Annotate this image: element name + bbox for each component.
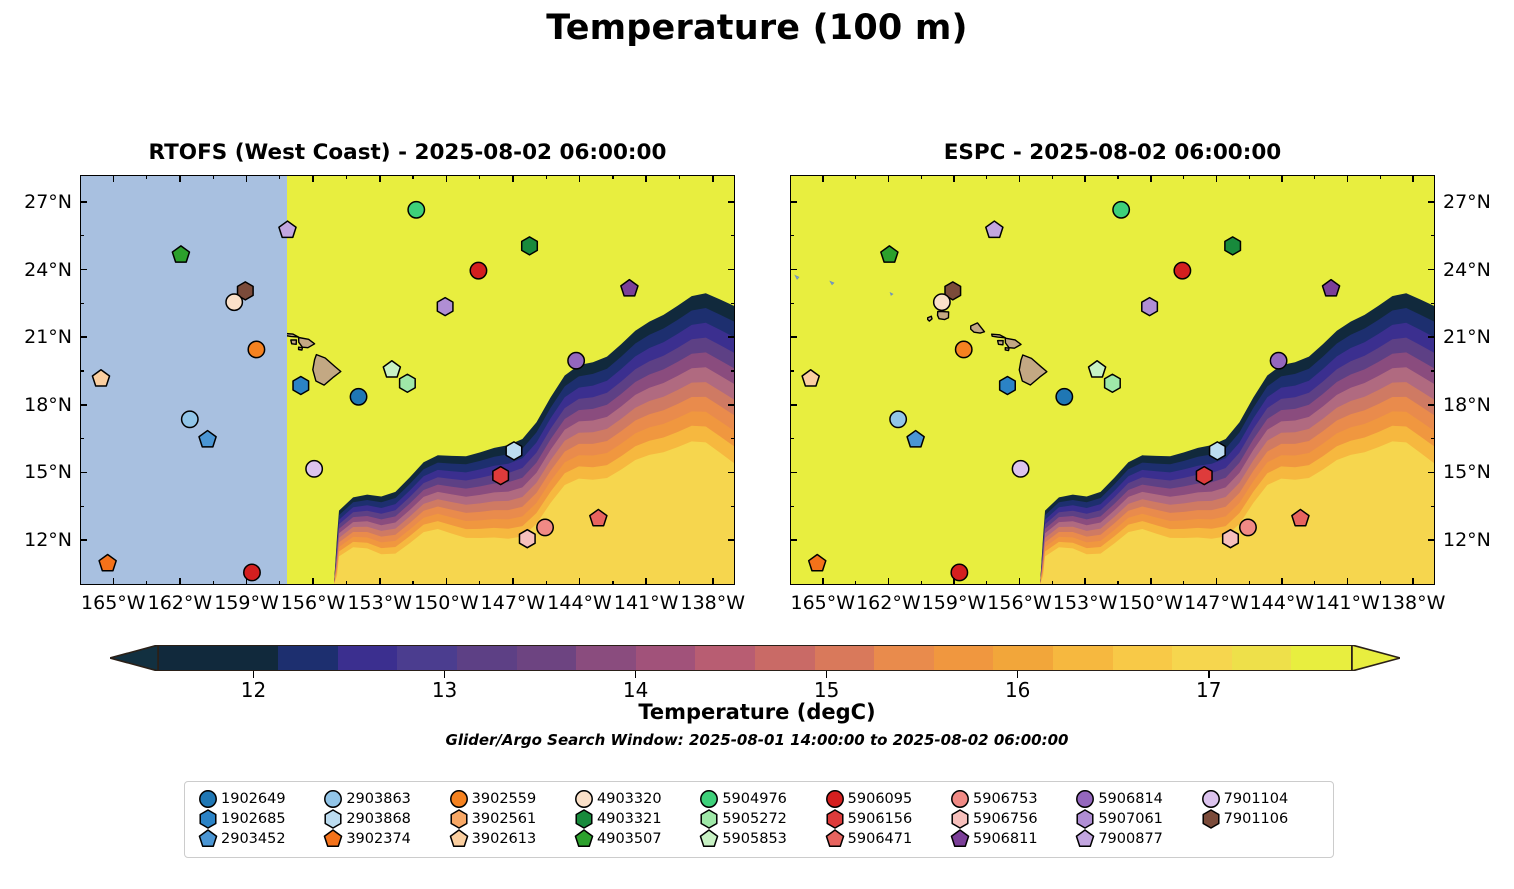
platform-marker-3902613[interactable]: [92, 370, 109, 386]
legend-item-7901106[interactable]: 7901106: [1198, 809, 1323, 829]
lon-tick: [1216, 578, 1218, 585]
platform-marker-2903452[interactable]: [907, 431, 924, 447]
platform-marker-5906814[interactable]: [568, 353, 584, 369]
lat-tick: [790, 269, 797, 271]
colorbar-tick: [635, 671, 637, 678]
legend-swatch-1902649[interactable]: [200, 791, 216, 807]
search-window-annotation: Glider/Argo Search Window: 2025-08-01 14…: [0, 731, 1514, 749]
legend-label: 3902561: [472, 811, 537, 827]
lon-tick-label: 138°W: [1365, 592, 1461, 614]
platform-legend[interactable]: 1902649190268529034522903863290386839023…: [184, 781, 1334, 858]
lon-tick: [1150, 578, 1152, 585]
lat-tick-minor: [1431, 370, 1435, 371]
platform-marker-4903507[interactable]: [172, 246, 189, 262]
lat-tick-minor: [80, 235, 84, 236]
legend-label: 5906811: [973, 831, 1038, 847]
lat-tick: [80, 336, 87, 338]
legend-swatch-5906753[interactable]: [952, 791, 968, 807]
lon-tick: [512, 175, 514, 182]
platform-marker-layer-espc: [791, 176, 1435, 585]
lon-tick: [1412, 175, 1414, 182]
lon-tick-minor: [546, 175, 547, 179]
lat-tick: [1428, 404, 1435, 406]
lat-tick: [1428, 201, 1435, 203]
lon-tick: [113, 175, 115, 182]
lon-tick-minor: [546, 581, 547, 585]
map-panel-espc[interactable]: [790, 175, 1435, 585]
legend-item-5906095[interactable]: 5906095: [822, 789, 947, 809]
legend-marker-icon: [947, 789, 973, 809]
lat-tick: [728, 269, 735, 271]
lon-tick: [1281, 578, 1283, 585]
figure-canvas: Temperature (100 m) RTOFS (West Coast) -…: [0, 0, 1514, 889]
platform-marker-4903321[interactable]: [522, 237, 538, 255]
legend-swatch-3902613[interactable]: [450, 830, 467, 846]
lon-tick-minor: [612, 581, 613, 585]
legend-label: 5906756: [973, 811, 1038, 827]
lon-tick: [113, 578, 115, 585]
lat-tick-minor: [1431, 506, 1435, 507]
lon-tick: [888, 175, 890, 182]
lat-tick-label: 15°N: [1443, 462, 1513, 482]
platform-marker-4903320[interactable]: [934, 294, 950, 310]
legend-marker-icon: [947, 809, 973, 829]
lon-tick: [712, 175, 714, 182]
legend-marker-icon: [822, 789, 848, 809]
lon-tick: [1281, 175, 1283, 182]
lat-tick: [728, 336, 735, 338]
legend-item-5904976[interactable]: 5904976: [696, 789, 821, 809]
lat-tick: [80, 201, 87, 203]
legend-marker-icon: [1072, 789, 1098, 809]
lon-tick-minor: [1380, 175, 1381, 179]
legend-marker-icon: [446, 809, 472, 829]
lon-tick: [1019, 175, 1021, 182]
platform-marker-7900877[interactable]: [986, 221, 1003, 237]
lat-tick-minor: [1431, 438, 1435, 439]
lat-tick-minor: [790, 370, 794, 371]
legend-swatch-3902374[interactable]: [325, 830, 342, 846]
legend-swatch-5906095[interactable]: [826, 791, 842, 807]
lat-tick-minor: [1431, 235, 1435, 236]
platform-marker-5906471[interactable]: [590, 509, 607, 525]
legend-swatch-3902559[interactable]: [450, 791, 466, 807]
platform-marker-2903452[interactable]: [199, 431, 216, 447]
legend-marker-icon: [320, 789, 346, 809]
lon-tick-minor: [479, 175, 480, 179]
lon-tick-minor: [986, 175, 987, 179]
colorbar-gradient: [158, 645, 1352, 671]
legend-swatch-7901106[interactable]: [1203, 810, 1219, 828]
lon-tick: [645, 175, 647, 182]
map-panel-rtofs[interactable]: [80, 175, 735, 585]
legend-item-1902649[interactable]: 1902649: [195, 789, 320, 809]
platform-marker-5906471[interactable]: [1292, 509, 1309, 525]
colorbar-tick-label: 14: [596, 678, 676, 702]
legend-swatch-5906471[interactable]: [826, 830, 843, 846]
platform-marker-4903320[interactable]: [226, 294, 242, 310]
legend-label: 2903452: [221, 831, 286, 847]
lat-tick-minor: [80, 438, 84, 439]
lon-tick-minor: [213, 175, 214, 179]
lon-tick-minor: [679, 581, 680, 585]
legend-item-5906756[interactable]: 5906756: [947, 809, 1072, 829]
legend-marker-icon: [822, 809, 848, 829]
lat-tick-minor: [790, 506, 794, 507]
legend-label: 2903868: [346, 811, 411, 827]
lon-tick: [822, 175, 824, 182]
lon-tick: [822, 578, 824, 585]
lat-tick: [80, 539, 87, 541]
legend-label: 5906156: [848, 811, 913, 827]
legend-swatch-5907061[interactable]: [1078, 810, 1094, 828]
lon-tick-minor: [146, 581, 147, 585]
lon-tick-minor: [1117, 581, 1118, 585]
platform-marker-5905272[interactable]: [400, 374, 416, 392]
colorbar[interactable]: [110, 645, 1400, 671]
lon-tick: [512, 578, 514, 585]
platform-marker-5904976[interactable]: [408, 202, 424, 218]
page-title: Temperature (100 m): [0, 8, 1514, 48]
colorbar-tick-label: 12: [214, 678, 294, 702]
colorbar-tick-label: 17: [1169, 678, 1249, 702]
legend-label: 5905272: [722, 811, 787, 827]
legend-marker-icon: [1198, 809, 1224, 829]
lon-tick-minor: [213, 581, 214, 585]
legend-item-2903452[interactable]: 2903452: [195, 829, 320, 849]
lon-tick: [712, 578, 714, 585]
platform-marker-7900877[interactable]: [279, 221, 296, 237]
legend-marker-icon: [822, 829, 848, 849]
lon-tick: [1084, 578, 1086, 585]
platform-marker-5906756[interactable]: [519, 530, 535, 548]
lat-tick-label: 15°N: [2, 462, 72, 482]
lon-tick: [446, 175, 448, 182]
platform-marker-5906156[interactable]: [1196, 467, 1212, 485]
legend-item-5906471[interactable]: 5906471: [822, 829, 947, 849]
legend-marker-icon: [1072, 829, 1098, 849]
legend-swatch-5904976[interactable]: [701, 791, 717, 807]
lon-tick: [1412, 578, 1414, 585]
lon-tick-minor: [612, 175, 613, 179]
legend-swatch-5906811[interactable]: [951, 830, 968, 846]
platform-marker-5905272[interactable]: [1105, 374, 1121, 392]
legend-swatch-7901104[interactable]: [1202, 791, 1218, 807]
legend-label: 7900877: [1098, 831, 1163, 847]
legend-label: 1902685: [221, 811, 286, 827]
platform-marker-1902685[interactable]: [1000, 377, 1016, 395]
lat-tick: [1428, 539, 1435, 541]
legend-label: 5905853: [722, 831, 787, 847]
lon-tick: [446, 578, 448, 585]
lon-tick: [312, 578, 314, 585]
legend-swatch-5905272[interactable]: [702, 810, 718, 828]
lon-tick-minor: [346, 581, 347, 585]
platform-marker-5904976[interactable]: [1113, 202, 1129, 218]
lon-tick: [312, 175, 314, 182]
legend-label: 5906814: [1098, 791, 1163, 807]
legend-swatch-2903452[interactable]: [199, 830, 216, 846]
legend-marker-icon: [696, 809, 722, 829]
panel-title-rtofs: RTOFS (West Coast) - 2025-08-02 06:00:00: [80, 140, 735, 165]
legend-label: 2903863: [346, 791, 411, 807]
legend-marker-icon: [571, 809, 597, 829]
legend-swatch-2903863[interactable]: [325, 791, 341, 807]
lon-tick-minor: [855, 175, 856, 179]
colorbar-tick: [1208, 671, 1210, 678]
lon-tick-minor: [679, 175, 680, 179]
platform-marker-4903507[interactable]: [881, 246, 898, 262]
platform-marker-5906811[interactable]: [621, 280, 638, 296]
legend-label: 3902559: [472, 791, 537, 807]
lat-tick-minor: [80, 370, 84, 371]
legend-label: 7901104: [1224, 791, 1289, 807]
platform-marker-5905853[interactable]: [383, 361, 400, 377]
platform-marker-2903863[interactable]: [890, 411, 906, 427]
legend-item-7901104[interactable]: 7901104: [1198, 789, 1323, 809]
legend-marker-icon: [696, 829, 722, 849]
lat-tick-label: 24°N: [2, 260, 72, 280]
lon-tick-minor: [412, 175, 413, 179]
lat-tick-label: 18°N: [1443, 395, 1513, 415]
platform-marker-3902374[interactable]: [809, 554, 826, 570]
lat-tick-minor: [731, 235, 735, 236]
legend-marker-icon: [320, 809, 346, 829]
legend-label: 5906753: [973, 791, 1038, 807]
lat-tick: [1428, 269, 1435, 271]
legend-item-5906753[interactable]: 5906753: [947, 789, 1072, 809]
lon-tick: [953, 578, 955, 585]
lon-tick-minor: [1052, 175, 1053, 179]
lon-tick-minor: [1052, 581, 1053, 585]
platform-marker-3902559[interactable]: [248, 341, 264, 357]
legend-item-1902685[interactable]: 1902685: [195, 809, 320, 829]
platform-marker-5906756[interactable]: [1223, 530, 1239, 548]
legend-marker-icon: [696, 789, 722, 809]
legend-swatch-5906814[interactable]: [1077, 791, 1093, 807]
lat-tick: [728, 201, 735, 203]
legend-item-4903321[interactable]: 4903321: [571, 809, 696, 829]
lat-tick: [790, 201, 797, 203]
legend-item-7900877[interactable]: 7900877: [1072, 829, 1197, 849]
lon-tick-label: 138°W: [665, 592, 761, 614]
legend-marker-icon: [195, 809, 221, 829]
legend-item-5906814[interactable]: 5906814: [1072, 789, 1197, 809]
platform-marker-2903868[interactable]: [506, 442, 522, 460]
lon-tick-minor: [1314, 175, 1315, 179]
lon-tick: [1084, 175, 1086, 182]
lon-tick-minor: [1314, 581, 1315, 585]
lon-tick-minor: [1183, 581, 1184, 585]
legend-label: 5904976: [722, 791, 787, 807]
lon-tick-minor: [1249, 581, 1250, 585]
platform-marker-layer-rtofs: [81, 176, 735, 585]
lat-tick-label: 12°N: [1443, 530, 1513, 550]
lon-tick-minor: [279, 581, 280, 585]
lat-tick-minor: [790, 303, 794, 304]
colorbar-extend-low: [110, 645, 158, 671]
legend-marker-icon: [947, 829, 973, 849]
lat-tick-label: 27°N: [2, 192, 72, 212]
platform-marker-3902559[interactable]: [956, 341, 972, 357]
legend-swatch-5905853[interactable]: [701, 830, 718, 846]
lon-tick-minor: [986, 581, 987, 585]
lon-tick: [1150, 175, 1152, 182]
lat-tick: [728, 472, 735, 474]
colorbar-label: Temperature (degC): [0, 700, 1514, 724]
legend-marker-icon: [446, 789, 472, 809]
platform-marker-4903321[interactable]: [1225, 237, 1241, 255]
lon-tick: [888, 578, 890, 585]
lat-tick-label: 18°N: [2, 395, 72, 415]
platform-marker-5906811[interactable]: [1322, 280, 1339, 296]
platform-marker-5907061[interactable]: [437, 298, 453, 316]
lon-tick: [579, 578, 581, 585]
lon-tick-minor: [855, 581, 856, 585]
legend-swatch-2903868[interactable]: [326, 810, 342, 828]
colorbar-tick: [1017, 671, 1019, 678]
colorbar-tick-label: 16: [978, 678, 1058, 702]
legend-label: 5906471: [848, 831, 913, 847]
platform-marker-5906814[interactable]: [1270, 353, 1286, 369]
legend-item-5905272[interactable]: 5905272: [696, 809, 821, 829]
lon-tick: [1019, 578, 1021, 585]
legend-item-3902559[interactable]: 3902559: [446, 789, 571, 809]
legend-item-5906156[interactable]: 5906156: [822, 809, 947, 829]
lon-tick-minor: [412, 581, 413, 585]
lat-tick-minor: [731, 506, 735, 507]
platform-marker-5905853[interactable]: [1089, 361, 1106, 377]
colorbar-extend-high: [1352, 645, 1400, 671]
platform-marker-5906095[interactable]: [470, 262, 486, 278]
legend-label: 5907061: [1098, 811, 1163, 827]
lat-tick: [1428, 472, 1435, 474]
lat-tick: [790, 472, 797, 474]
lon-tick: [246, 578, 248, 585]
colorbar-tick: [444, 671, 446, 678]
legend-swatch-5906756[interactable]: [952, 810, 968, 828]
legend-item-3902561[interactable]: 3902561: [446, 809, 571, 829]
lat-tick-minor: [731, 370, 735, 371]
legend-marker-icon: [195, 789, 221, 809]
legend-swatch-3902561[interactable]: [451, 810, 467, 828]
lon-tick: [645, 578, 647, 585]
legend-swatch-5906156[interactable]: [827, 810, 843, 828]
lat-tick: [790, 539, 797, 541]
lon-tick: [1216, 175, 1218, 182]
legend-item-4903507[interactable]: 4903507: [571, 829, 696, 849]
legend-label: 3902374: [346, 831, 411, 847]
lon-tick-minor: [146, 175, 147, 179]
platform-marker-5906095[interactable]: [1174, 262, 1190, 278]
lat-tick: [790, 336, 797, 338]
legend-item-3902374[interactable]: 3902374: [320, 829, 445, 849]
legend-label: 4903507: [597, 831, 662, 847]
lon-tick: [379, 578, 381, 585]
lon-tick: [179, 578, 181, 585]
lat-tick-minor: [80, 506, 84, 507]
lon-tick: [1347, 175, 1349, 182]
legend-item-5907061[interactable]: 5907061: [1072, 809, 1197, 829]
platform-marker-2903863[interactable]: [182, 411, 198, 427]
platform-marker-7901104[interactable]: [1012, 461, 1028, 477]
platform-marker-3902613[interactable]: [802, 370, 819, 386]
legend-item-2903863[interactable]: 2903863: [320, 789, 445, 809]
lon-tick: [179, 175, 181, 182]
lat-tick-label: 21°N: [2, 327, 72, 347]
platform-marker-3902374[interactable]: [99, 554, 116, 570]
lat-tick: [80, 472, 87, 474]
legend-item-3902613[interactable]: 3902613: [446, 829, 571, 849]
lat-tick-label: 21°N: [1443, 327, 1513, 347]
legend-marker-icon: [571, 829, 597, 849]
lon-tick-minor: [279, 175, 280, 179]
platform-marker-5906156[interactable]: [493, 467, 509, 485]
lat-tick-label: 24°N: [1443, 260, 1513, 280]
lat-tick: [80, 269, 87, 271]
legend-marker-icon: [320, 829, 346, 849]
legend-marker-icon: [195, 829, 221, 849]
lat-tick: [790, 404, 797, 406]
legend-item-2903868[interactable]: 2903868: [320, 809, 445, 829]
lon-tick-minor: [1249, 175, 1250, 179]
platform-marker-7901104[interactable]: [306, 461, 322, 477]
legend-label: 4903320: [597, 791, 662, 807]
lat-tick: [728, 539, 735, 541]
legend-label: 7901106: [1224, 811, 1289, 827]
lat-tick-minor: [790, 235, 794, 236]
legend-marker-icon: [446, 829, 472, 849]
lat-tick-minor: [790, 438, 794, 439]
platform-marker-1902649[interactable]: [350, 389, 366, 405]
platform-marker-1902685[interactable]: [293, 377, 309, 395]
platform-marker-5906753[interactable]: [1240, 519, 1256, 535]
legend-marker-icon: [571, 789, 597, 809]
legend-label: 1902649: [221, 791, 286, 807]
lon-tick-minor: [479, 581, 480, 585]
legend-item-5905853[interactable]: 5905853: [696, 829, 821, 849]
lat-tick-minor: [731, 438, 735, 439]
legend-swatch-1902685[interactable]: [200, 810, 216, 828]
lon-tick: [246, 175, 248, 182]
platform-marker-5906753[interactable]: [537, 519, 553, 535]
platform-marker-5907061[interactable]: [1142, 298, 1158, 316]
lon-tick-minor: [1117, 175, 1118, 179]
lon-tick-minor: [1380, 581, 1381, 585]
legend-item-5906811[interactable]: 5906811: [947, 829, 1072, 849]
legend-swatch-7900877[interactable]: [1077, 830, 1094, 846]
legend-swatch-4903321[interactable]: [576, 810, 592, 828]
legend-item-4903320[interactable]: 4903320: [571, 789, 696, 809]
lat-tick-minor: [80, 303, 84, 304]
legend-swatch-4903507[interactable]: [575, 830, 592, 846]
lat-tick: [728, 404, 735, 406]
legend-marker-icon: [1198, 789, 1224, 809]
lat-tick-minor: [1431, 303, 1435, 304]
lat-tick: [1428, 336, 1435, 338]
lon-tick: [1347, 578, 1349, 585]
colorbar-tick: [826, 671, 828, 678]
lat-tick: [80, 404, 87, 406]
legend-swatch-4903320[interactable]: [576, 791, 592, 807]
platform-marker-1902649[interactable]: [1056, 389, 1072, 405]
platform-marker-2903868[interactable]: [1210, 442, 1226, 460]
lon-tick-minor: [346, 175, 347, 179]
legend-label: 5906095: [848, 791, 913, 807]
panel-title-espc: ESPC - 2025-08-02 06:00:00: [790, 140, 1435, 165]
legend-label: 3902613: [472, 831, 537, 847]
lat-tick-label: 12°N: [2, 530, 72, 550]
